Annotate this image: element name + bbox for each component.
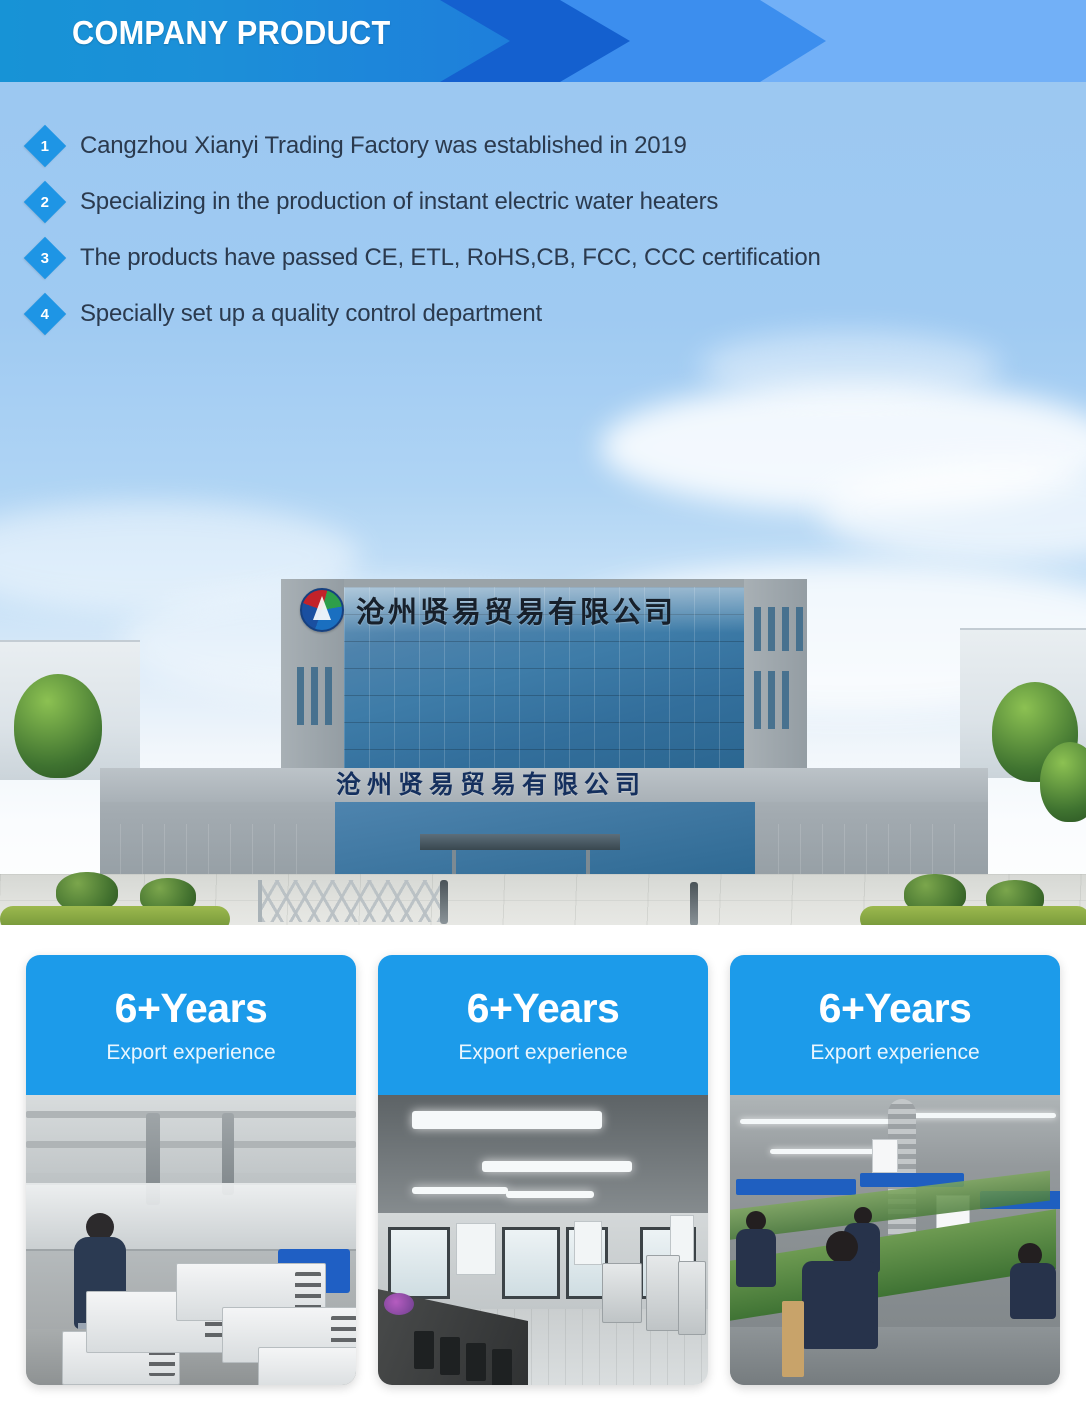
entrance-canopy: [420, 834, 620, 850]
lawn-strip: [0, 906, 230, 925]
testing-meeting-room-photo: [378, 1095, 708, 1385]
tree: [14, 674, 102, 778]
list-item: 1 Cangzhou Xianyi Trading Factory was es…: [30, 118, 821, 174]
page-header-banner: COMPANY PRODUCT: [0, 0, 1086, 82]
stats-card-row: 6+Years Export experience 6+Years: [0, 931, 1086, 1405]
tower-stone-column-right: [744, 579, 807, 779]
stat-card[interactable]: 6+Years Export experience: [730, 955, 1060, 1385]
lawn-strip: [860, 906, 1086, 925]
bullet-number: 1: [41, 139, 49, 154]
podium-window-right: [778, 824, 968, 874]
card-subtitle: Export experience: [458, 1042, 627, 1063]
bollard: [690, 882, 698, 925]
feature-bullet-list: 1 Cangzhou Xianyi Trading Factory was es…: [30, 118, 821, 342]
card-years-value: 6+Years: [115, 988, 268, 1029]
bullet-text: Specially set up a quality control depar…: [80, 300, 542, 328]
page-title: COMPANY PRODUCT: [72, 14, 390, 52]
card-years-value: 6+Years: [467, 988, 620, 1029]
tree: [1040, 742, 1086, 822]
list-item: 4 Specially set up a quality control dep…: [30, 286, 821, 342]
stat-card[interactable]: 6+Years Export experience: [26, 955, 356, 1385]
canopy-support: [452, 850, 456, 876]
factory-assembly-line-photo: [26, 1095, 356, 1385]
rooftop-sign-text: 沧州贤易贸易有限公司: [356, 589, 676, 631]
diamond-number-icon: 2: [24, 181, 66, 223]
list-item: 2 Specializing in the production of inst…: [30, 174, 821, 230]
rooftop-company-sign: 沧州贤易贸易有限公司: [300, 588, 676, 632]
bullet-text: Cangzhou Xianyi Trading Factory was esta…: [80, 132, 687, 160]
diamond-number-icon: 4: [24, 293, 66, 335]
company-logo-icon: [300, 588, 344, 632]
diamond-number-icon: 3: [24, 237, 66, 279]
bullet-number: 2: [41, 195, 49, 210]
bullet-number: 3: [41, 251, 49, 266]
retractable-gate: [258, 880, 440, 922]
hero-section: 1 Cangzhou Xianyi Trading Factory was es…: [0, 82, 1086, 925]
gate-post: [440, 880, 448, 924]
facade-company-sign: 沧州贤易贸易有限公司: [336, 765, 646, 801]
card-subtitle: Export experience: [810, 1042, 979, 1063]
card-years-value: 6+Years: [819, 988, 972, 1029]
bullet-text: The products have passed CE, ETL, RoHS,C…: [80, 244, 821, 272]
bullet-text: Specializing in the production of instan…: [80, 188, 718, 216]
bullet-number: 4: [41, 307, 49, 322]
card-header: 6+Years Export experience: [26, 955, 356, 1095]
stat-card[interactable]: 6+Years Export experience: [378, 955, 708, 1385]
electronics-workbench-photo: [730, 1095, 1060, 1385]
podium-window-left: [120, 824, 310, 874]
card-subtitle: Export experience: [106, 1042, 275, 1063]
card-header: 6+Years Export experience: [378, 955, 708, 1095]
card-header: 6+Years Export experience: [730, 955, 1060, 1095]
diamond-number-icon: 1: [24, 125, 66, 167]
canopy-support: [586, 850, 590, 876]
list-item: 3 The products have passed CE, ETL, RoHS…: [30, 230, 821, 286]
